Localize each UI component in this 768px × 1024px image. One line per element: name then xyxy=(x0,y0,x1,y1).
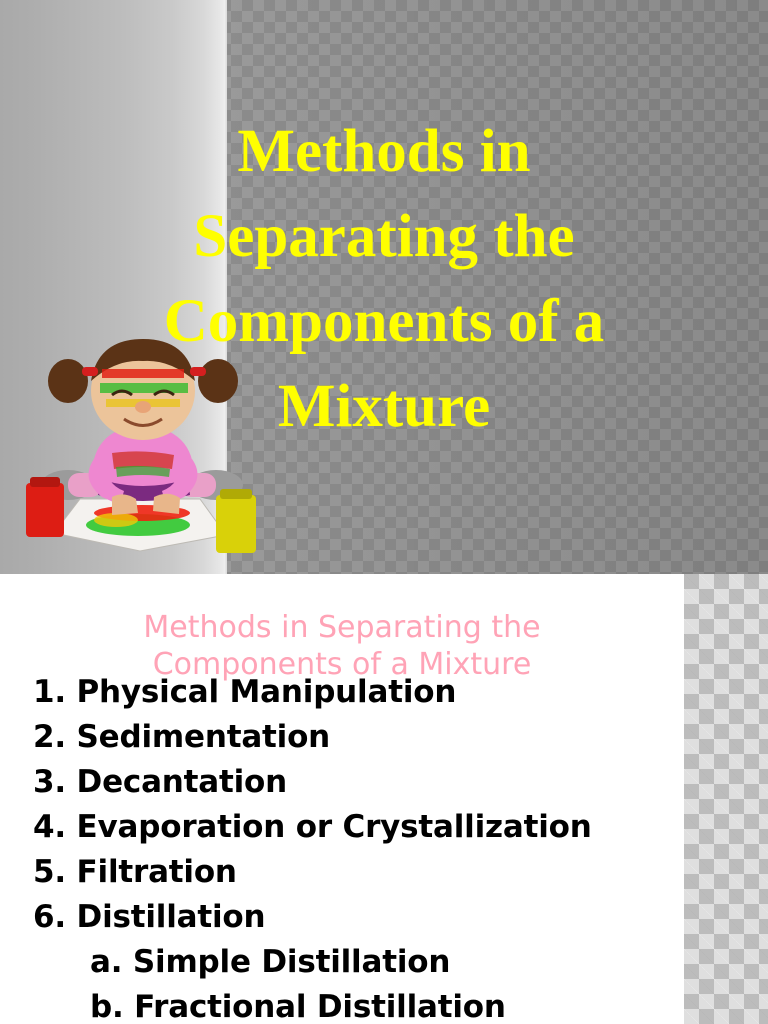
title-line-1: Methods in xyxy=(0,109,768,194)
content-heading-line-1: Methods in Separating the xyxy=(0,609,684,646)
list-item: 4. Evaporation or Crystallization xyxy=(0,805,768,850)
content-slide: Methods in Separating the Components of … xyxy=(0,574,768,1024)
nose xyxy=(135,401,151,413)
title-line-2: Separating the xyxy=(0,194,768,279)
child-finger-painting-image xyxy=(20,333,270,565)
child-finger-painting-illustration xyxy=(20,333,270,565)
yellow-paint-jar xyxy=(216,495,256,553)
yellow-paint-smear xyxy=(94,513,138,527)
list-item: 6. Distillation xyxy=(0,895,768,940)
list-item: 1. Physical Manipulation xyxy=(0,670,768,715)
right-pigtail xyxy=(198,359,238,403)
face-paint-red xyxy=(102,369,184,378)
face-paint-green xyxy=(100,383,188,393)
list-item: 2. Sedimentation xyxy=(0,715,768,760)
red-paint-jar-lid xyxy=(30,477,60,487)
right-hair-tie xyxy=(190,367,206,376)
red-paint-jar xyxy=(26,483,64,537)
yellow-paint-jar-lid xyxy=(220,489,252,499)
left-hair-tie xyxy=(82,367,98,376)
methods-list: 1. Physical Manipulation 2. Sedimentatio… xyxy=(0,670,768,1024)
list-item: 5. Filtration xyxy=(0,850,768,895)
left-pigtail xyxy=(48,359,88,403)
right-hand xyxy=(153,494,180,514)
title-slide: Methods in Separating the Components of … xyxy=(0,0,768,574)
list-item: a. Simple Distillation xyxy=(0,940,768,985)
list-item: b. Fractional Distillation xyxy=(0,985,768,1024)
list-item: 3. Decantation xyxy=(0,760,768,805)
slide-deck: Methods in Separating the Components of … xyxy=(0,0,768,1024)
